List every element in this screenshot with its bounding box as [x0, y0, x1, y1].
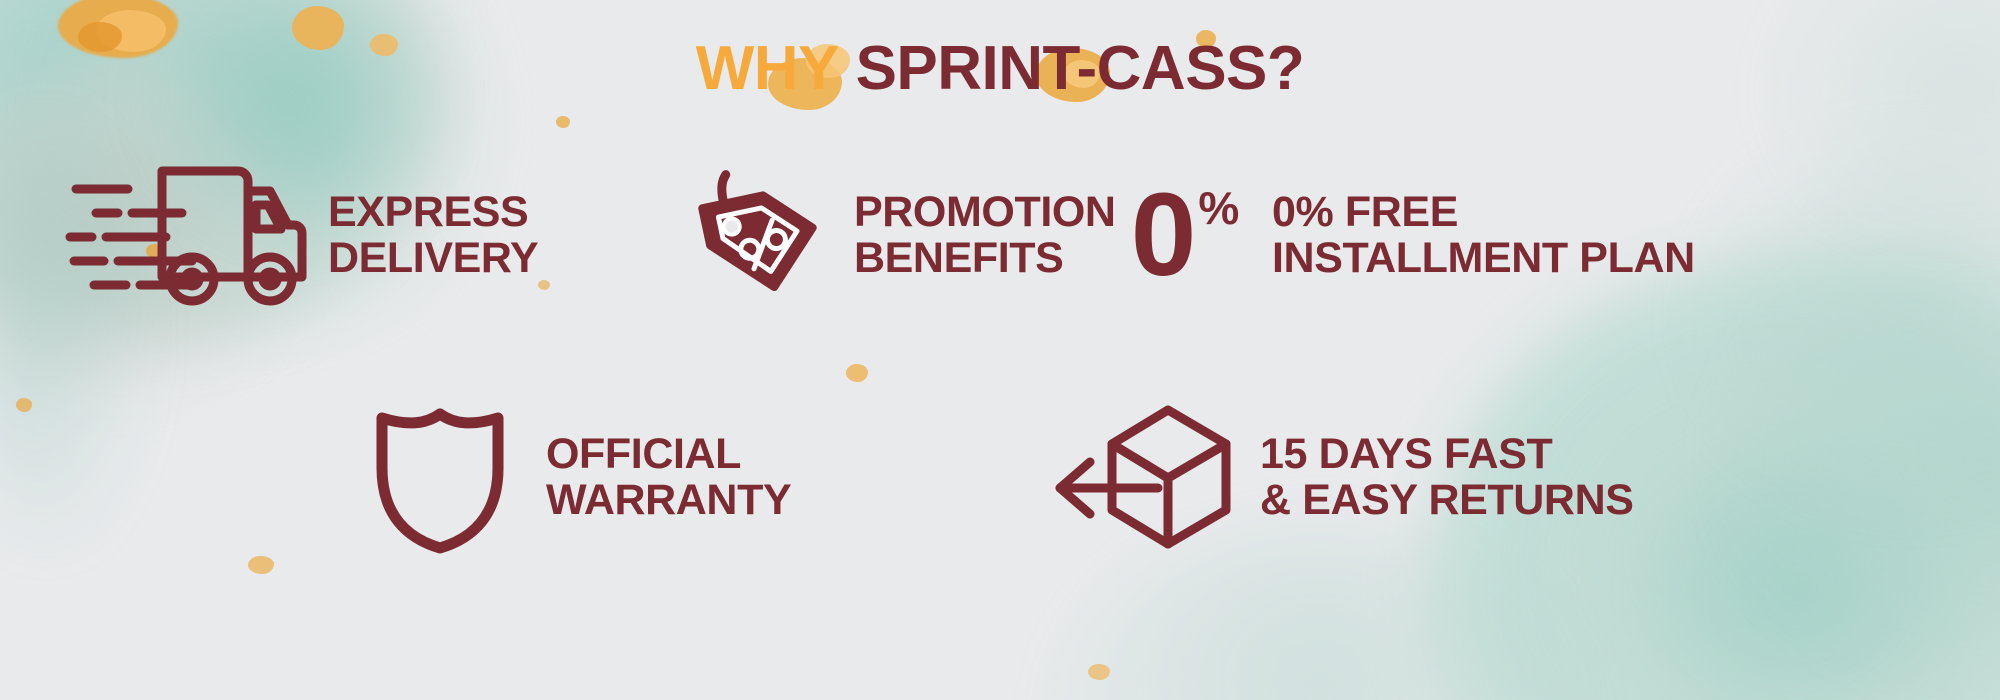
feature-label-line2: DELIVERY: [328, 235, 538, 281]
feature-installment-plan: 0 % 0% FREE INSTALLMENT PLAN: [1120, 181, 1920, 290]
discount-tag-percent-icon: [680, 160, 830, 310]
feature-row-2: OFFICIAL WARRANTY: [0, 402, 2000, 552]
zero-percent-text: 0 %: [1120, 181, 1250, 290]
feature-grid: EXPRESS DELIVERY: [0, 160, 2000, 552]
banner-heading: WHY SPRINT-CASS?: [0, 38, 2000, 100]
promo-banner: WHY SPRINT-CASS?: [0, 0, 2000, 700]
watercolor-blob-bottom-middle: [1060, 530, 1580, 700]
feature-label-line1: OFFICIAL: [546, 431, 791, 477]
percent-symbol: %: [1198, 185, 1239, 231]
return-box-arrow-icon: [1050, 402, 1240, 552]
feature-row-1: EXPRESS DELIVERY: [0, 160, 2000, 310]
feature-label-line1: EXPRESS: [328, 189, 538, 235]
feature-promotion-benefits: PROMOTION BENEFITS: [680, 160, 1120, 310]
feature-label-line2: & EASY RETURNS: [1260, 477, 1634, 523]
delivery-truck-icon: [70, 165, 300, 305]
feature-label-line2: INSTALLMENT PLAN: [1272, 235, 1695, 281]
feature-label-line1: 0% FREE: [1272, 189, 1695, 235]
feature-easy-returns: 15 DAYS FAST & EASY RETURNS: [1050, 402, 1750, 552]
heading-rest: SPRINT-CASS?: [856, 34, 1305, 103]
feature-label: OFFICIAL WARRANTY: [546, 431, 791, 524]
feature-express-delivery: EXPRESS DELIVERY: [70, 165, 680, 305]
feature-label: EXPRESS DELIVERY: [328, 189, 538, 282]
zero-digit: 0: [1131, 181, 1197, 290]
feature-label: 0% FREE INSTALLMENT PLAN: [1272, 189, 1695, 282]
feature-label: 15 DAYS FAST & EASY RETURNS: [1260, 431, 1634, 524]
feature-label-line1: 15 DAYS FAST: [1260, 431, 1634, 477]
feature-label: PROMOTION BENEFITS: [854, 189, 1116, 282]
feature-label-line2: WARRANTY: [546, 477, 791, 523]
shield-icon: [360, 402, 520, 552]
feature-label-line1: PROMOTION: [854, 189, 1116, 235]
gold-fleck: [1088, 664, 1110, 680]
gold-fleck: [248, 556, 274, 574]
heading-highlight: WHY: [696, 34, 839, 103]
feature-official-warranty: OFFICIAL WARRANTY: [360, 402, 1050, 552]
gold-fleck: [556, 116, 570, 128]
feature-label-line2: BENEFITS: [854, 235, 1116, 281]
